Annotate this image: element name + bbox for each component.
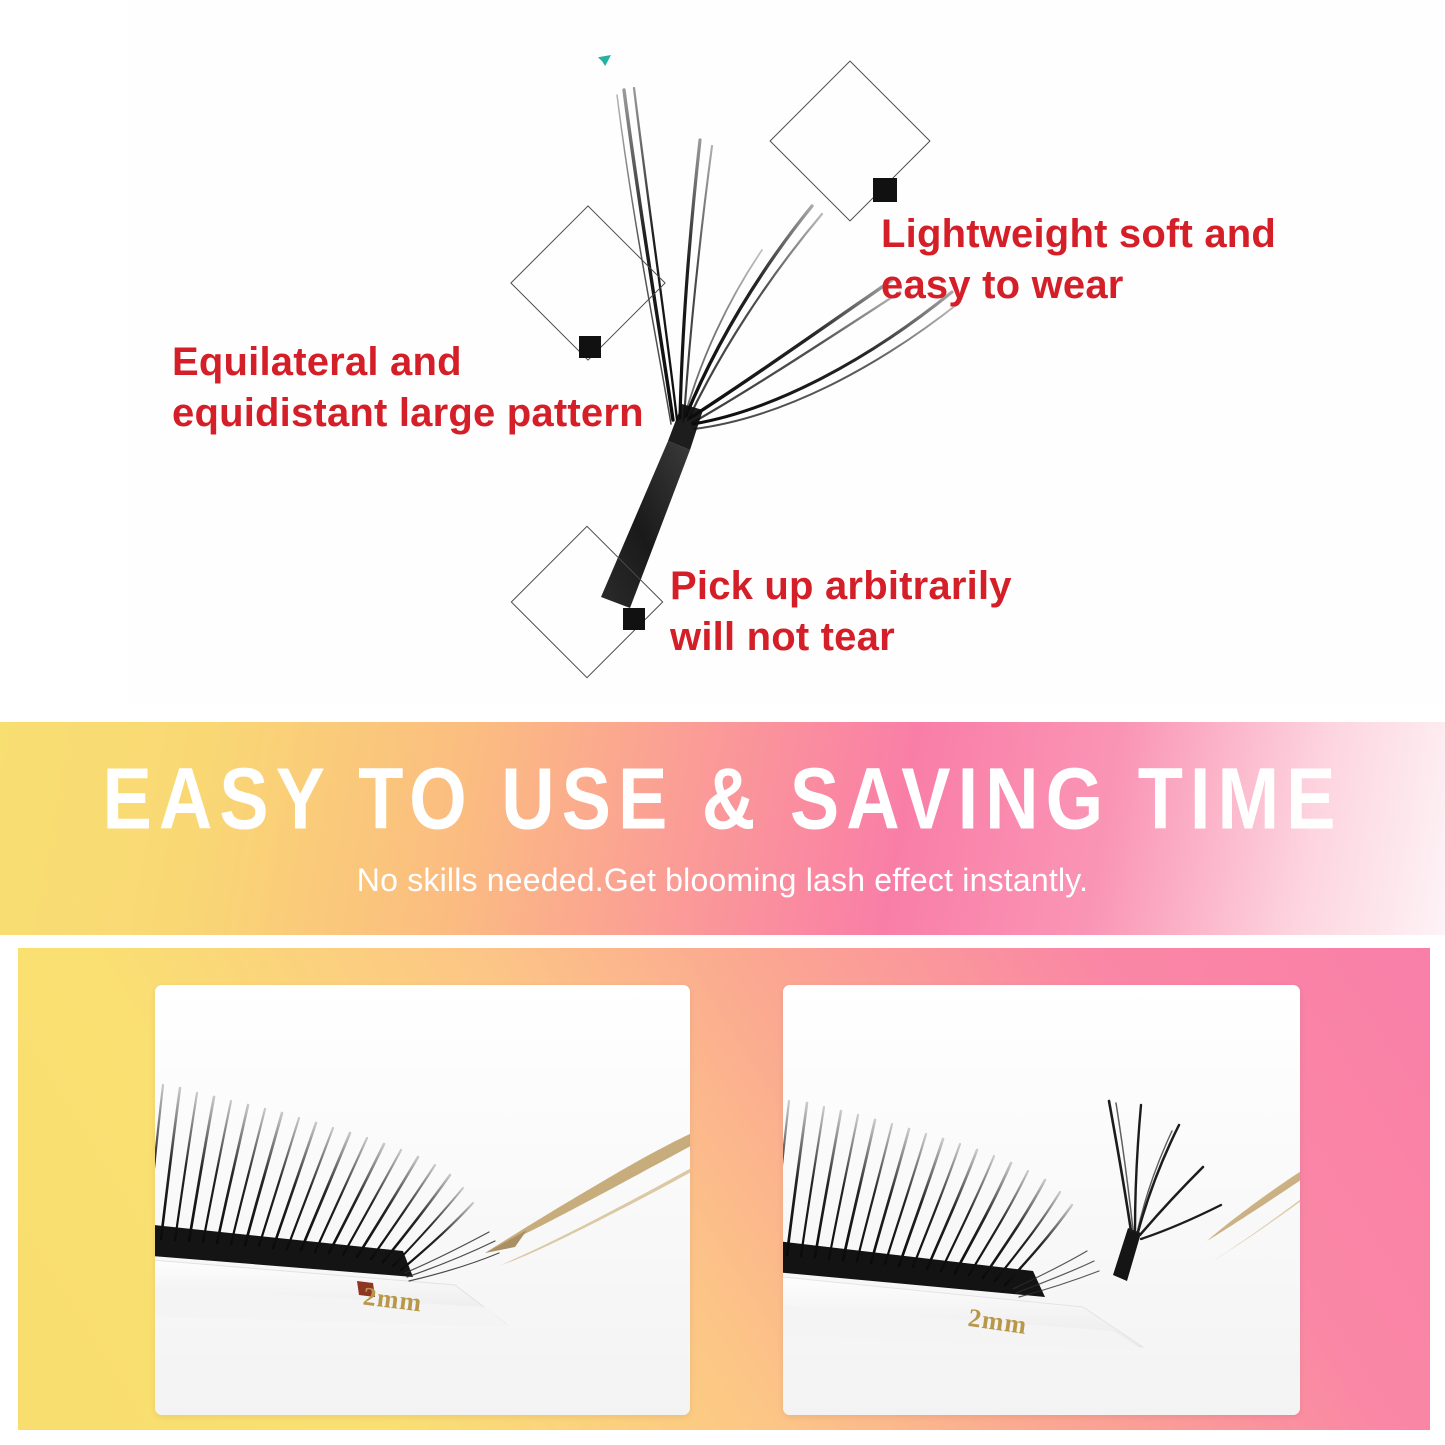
marker-square-bottom-icon [623,608,645,630]
top-feature-panel: Equilateral and equidistant large patter… [0,0,1445,720]
marker-square-right-icon [873,178,897,202]
photo-card-left[interactable]: 2mm [155,985,690,1415]
callout-lightweight: Lightweight soft and easy to wear [881,209,1276,311]
callout-equilateral-line2: equidistant large pattern [172,388,644,439]
photo-card-right[interactable]: 2mm [783,985,1300,1415]
callout-lightweight-line2: easy to wear [881,260,1276,311]
callout-pickup-line1: Pick up arbitrarily [670,561,1012,612]
headline-banner: EASY TO USE & SAVING TIME No skills need… [0,722,1445,935]
lash-tray-photo [155,985,690,1415]
callout-equilateral: Equilateral and equidistant large patter… [172,337,644,439]
callout-pickup: Pick up arbitrarily will not tear [670,561,1012,663]
banner-subtitle: No skills needed.Get blooming lash effec… [357,864,1088,896]
gallery-panel: 2mm [18,948,1430,1430]
callout-pickup-line2: will not tear [670,612,1012,663]
product-feature-page: Equilateral and equidistant large patter… [0,0,1445,1445]
banner-title: EASY TO USE & SAVING TIME [103,755,1343,842]
lash-fan-pickup-photo [783,985,1300,1415]
callout-equilateral-line1: Equilateral and [172,337,644,388]
callout-lightweight-line1: Lightweight soft and [881,209,1276,260]
